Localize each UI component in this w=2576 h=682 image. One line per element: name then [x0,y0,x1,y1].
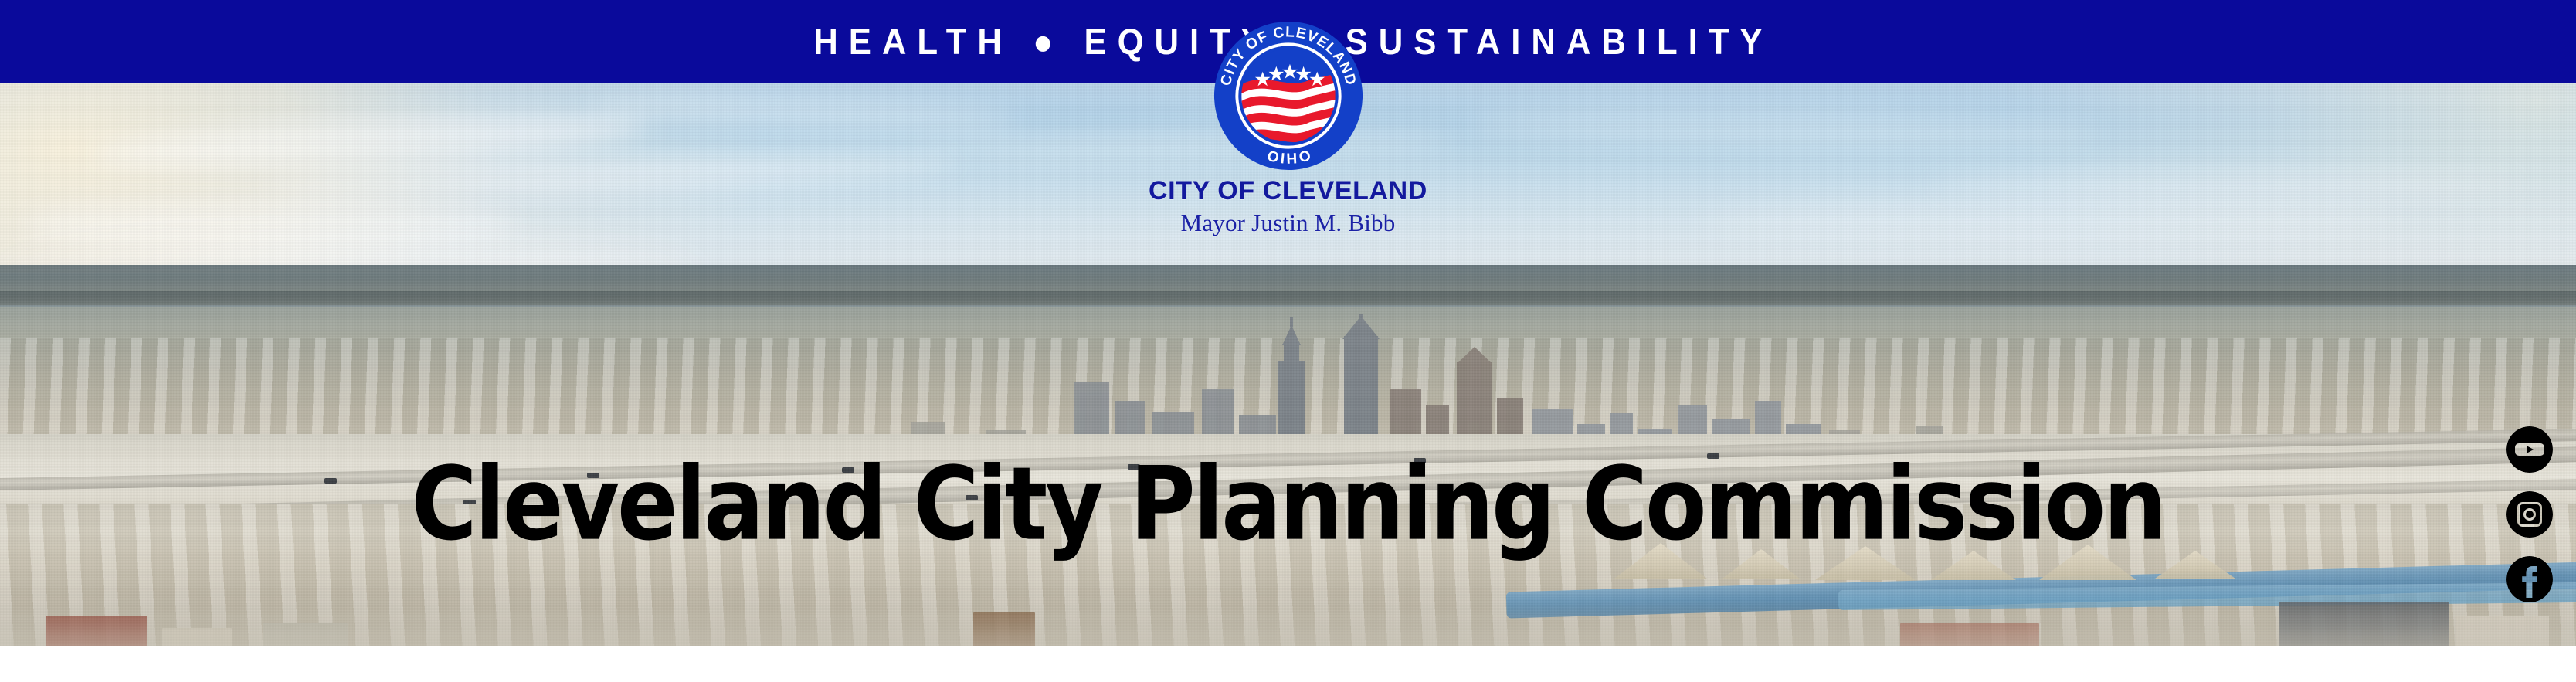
page-root: HEALTH ● EQUITY ● SUSTAINABILITY [0,0,2576,682]
hero-photo [0,83,2576,646]
cloud [1699,198,2394,242]
building [263,623,348,646]
cloud [1931,168,2518,198]
building [973,612,1035,646]
vehicle [1128,464,1140,470]
tagline-banner: HEALTH ● EQUITY ● SUSTAINABILITY [0,0,2576,83]
building [2456,616,2549,646]
vehicle [324,478,337,484]
building [46,616,147,646]
facebook-icon[interactable] [2506,556,2553,602]
vehicle [1707,453,1719,459]
youtube-icon[interactable] [2506,426,2553,473]
building [1900,623,2039,646]
tagline-text: HEALTH ● EQUITY ● SUSTAINABILITY [803,23,1773,59]
vehicle [587,473,599,478]
building [2279,602,2449,646]
instagram-icon[interactable] [2506,491,2553,538]
cloud [23,198,518,253]
social-links [2506,426,2553,602]
vehicle [966,495,978,500]
vehicle [842,467,854,473]
vehicle [1414,458,1426,463]
bottom-strip [0,646,2576,682]
building [162,628,232,646]
